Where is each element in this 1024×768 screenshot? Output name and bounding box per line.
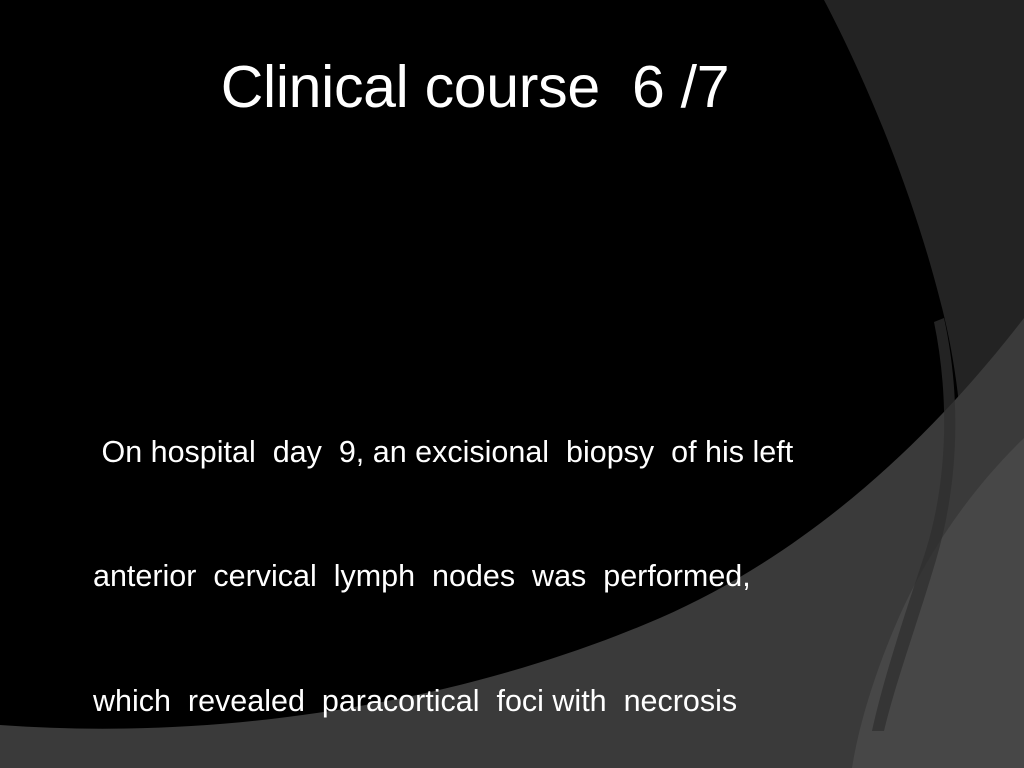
body-line: which revealed paracortical foci with ne… — [93, 681, 973, 723]
slide-body: On hospital day 9, an excisional biopsy … — [93, 224, 973, 768]
slide-canvas: Clinical course 6 /7 On hospital day 9, … — [0, 0, 1024, 768]
slide-content: Clinical course 6 /7 On hospital day 9, … — [0, 0, 1024, 768]
body-line: On hospital day 9, an excisional biopsy … — [93, 432, 973, 474]
page-title: Clinical course 6 /7 — [0, 58, 950, 117]
body-paragraph-1: On hospital day 9, an excisional biopsy … — [93, 349, 973, 768]
body-line: anterior cervical lymph nodes was perfor… — [93, 556, 973, 598]
